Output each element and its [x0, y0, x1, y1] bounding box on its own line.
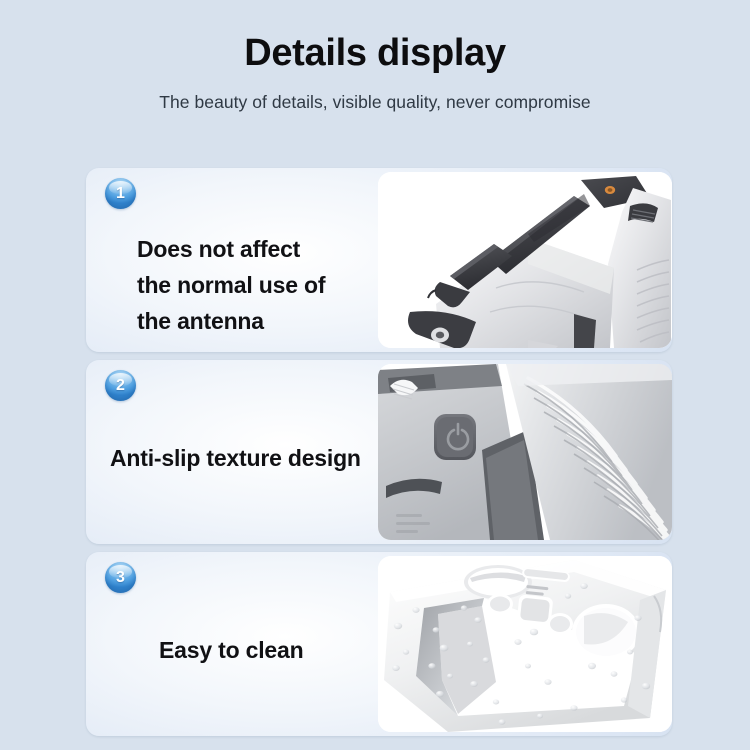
badge-number-1: 1 — [105, 178, 136, 209]
feature-card-3-text: Easy to clean — [159, 632, 303, 668]
silicone-case-water-droplets-photo — [378, 556, 672, 732]
badge-number-2: 2 — [105, 370, 136, 401]
feature-card-2-text: Anti-slip texture design — [110, 440, 361, 476]
page-title: Details display — [0, 34, 750, 74]
anti-slip-grip-texture-photo — [378, 364, 672, 540]
feature-card-1[interactable]: 1 Does not affect the normal use of the … — [86, 168, 672, 352]
badge-number-label: 3 — [116, 570, 125, 586]
badge-number-label: 2 — [116, 378, 125, 394]
badge-number-label: 1 — [116, 186, 125, 202]
badge-number-3: 3 — [105, 562, 136, 593]
feature-card-3[interactable]: 3 Easy to clean — [86, 552, 672, 736]
controller-antenna-clip-photo — [378, 172, 672, 348]
feature-card-2[interactable]: 2 Anti-slip texture design — [86, 360, 672, 544]
page-subtitle: The beauty of details, visible quality, … — [0, 92, 750, 113]
feature-card-1-text: Does not affect the normal use of the an… — [137, 231, 325, 339]
page-header: Details display The beauty of details, v… — [0, 0, 750, 113]
feature-card-list: 1 Does not affect the normal use of the … — [86, 168, 672, 744]
